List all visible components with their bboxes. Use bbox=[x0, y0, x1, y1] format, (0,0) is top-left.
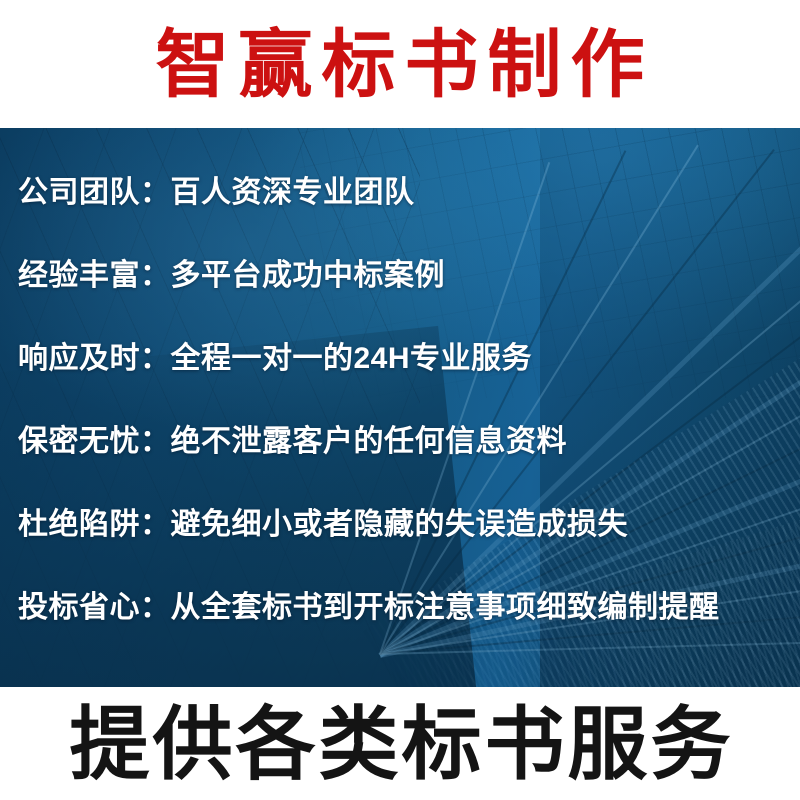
feature-list: 公司团队：百人资深专业团队 经验丰富：多平台成功中标案例 响应及时：全程一对一的… bbox=[18, 128, 800, 687]
footer-band: 提供各类标书服务 bbox=[0, 687, 800, 800]
background-photo-panel: 公司团队：百人资深专业团队 经验丰富：多平台成功中标案例 响应及时：全程一对一的… bbox=[0, 128, 800, 687]
header-band: 智赢标书制作 bbox=[0, 0, 800, 128]
feature-item-response-time: 响应及时：全程一对一的24H专业服务 bbox=[18, 344, 532, 374]
feature-item-avoid-pitfalls: 杜绝陷阱：避免细小或者隐藏的失误造成损失 bbox=[18, 510, 628, 540]
footer-tagline: 提供各类标书服务 bbox=[67, 705, 734, 785]
feature-item-worry-free-bidding: 投标省心：从全套标书到开标注意事项细致编制提醒 bbox=[18, 593, 720, 623]
poster-root: 智赢标书制作 bbox=[0, 0, 800, 800]
page-title: 智赢标书制作 bbox=[147, 28, 654, 102]
feature-item-experience: 经验丰富：多平台成功中标案例 bbox=[18, 261, 445, 291]
feature-item-confidentiality: 保密无忧：绝不泄露客户的任何信息资料 bbox=[18, 427, 567, 457]
feature-item-company-team: 公司团队：百人资深专业团队 bbox=[18, 178, 415, 208]
